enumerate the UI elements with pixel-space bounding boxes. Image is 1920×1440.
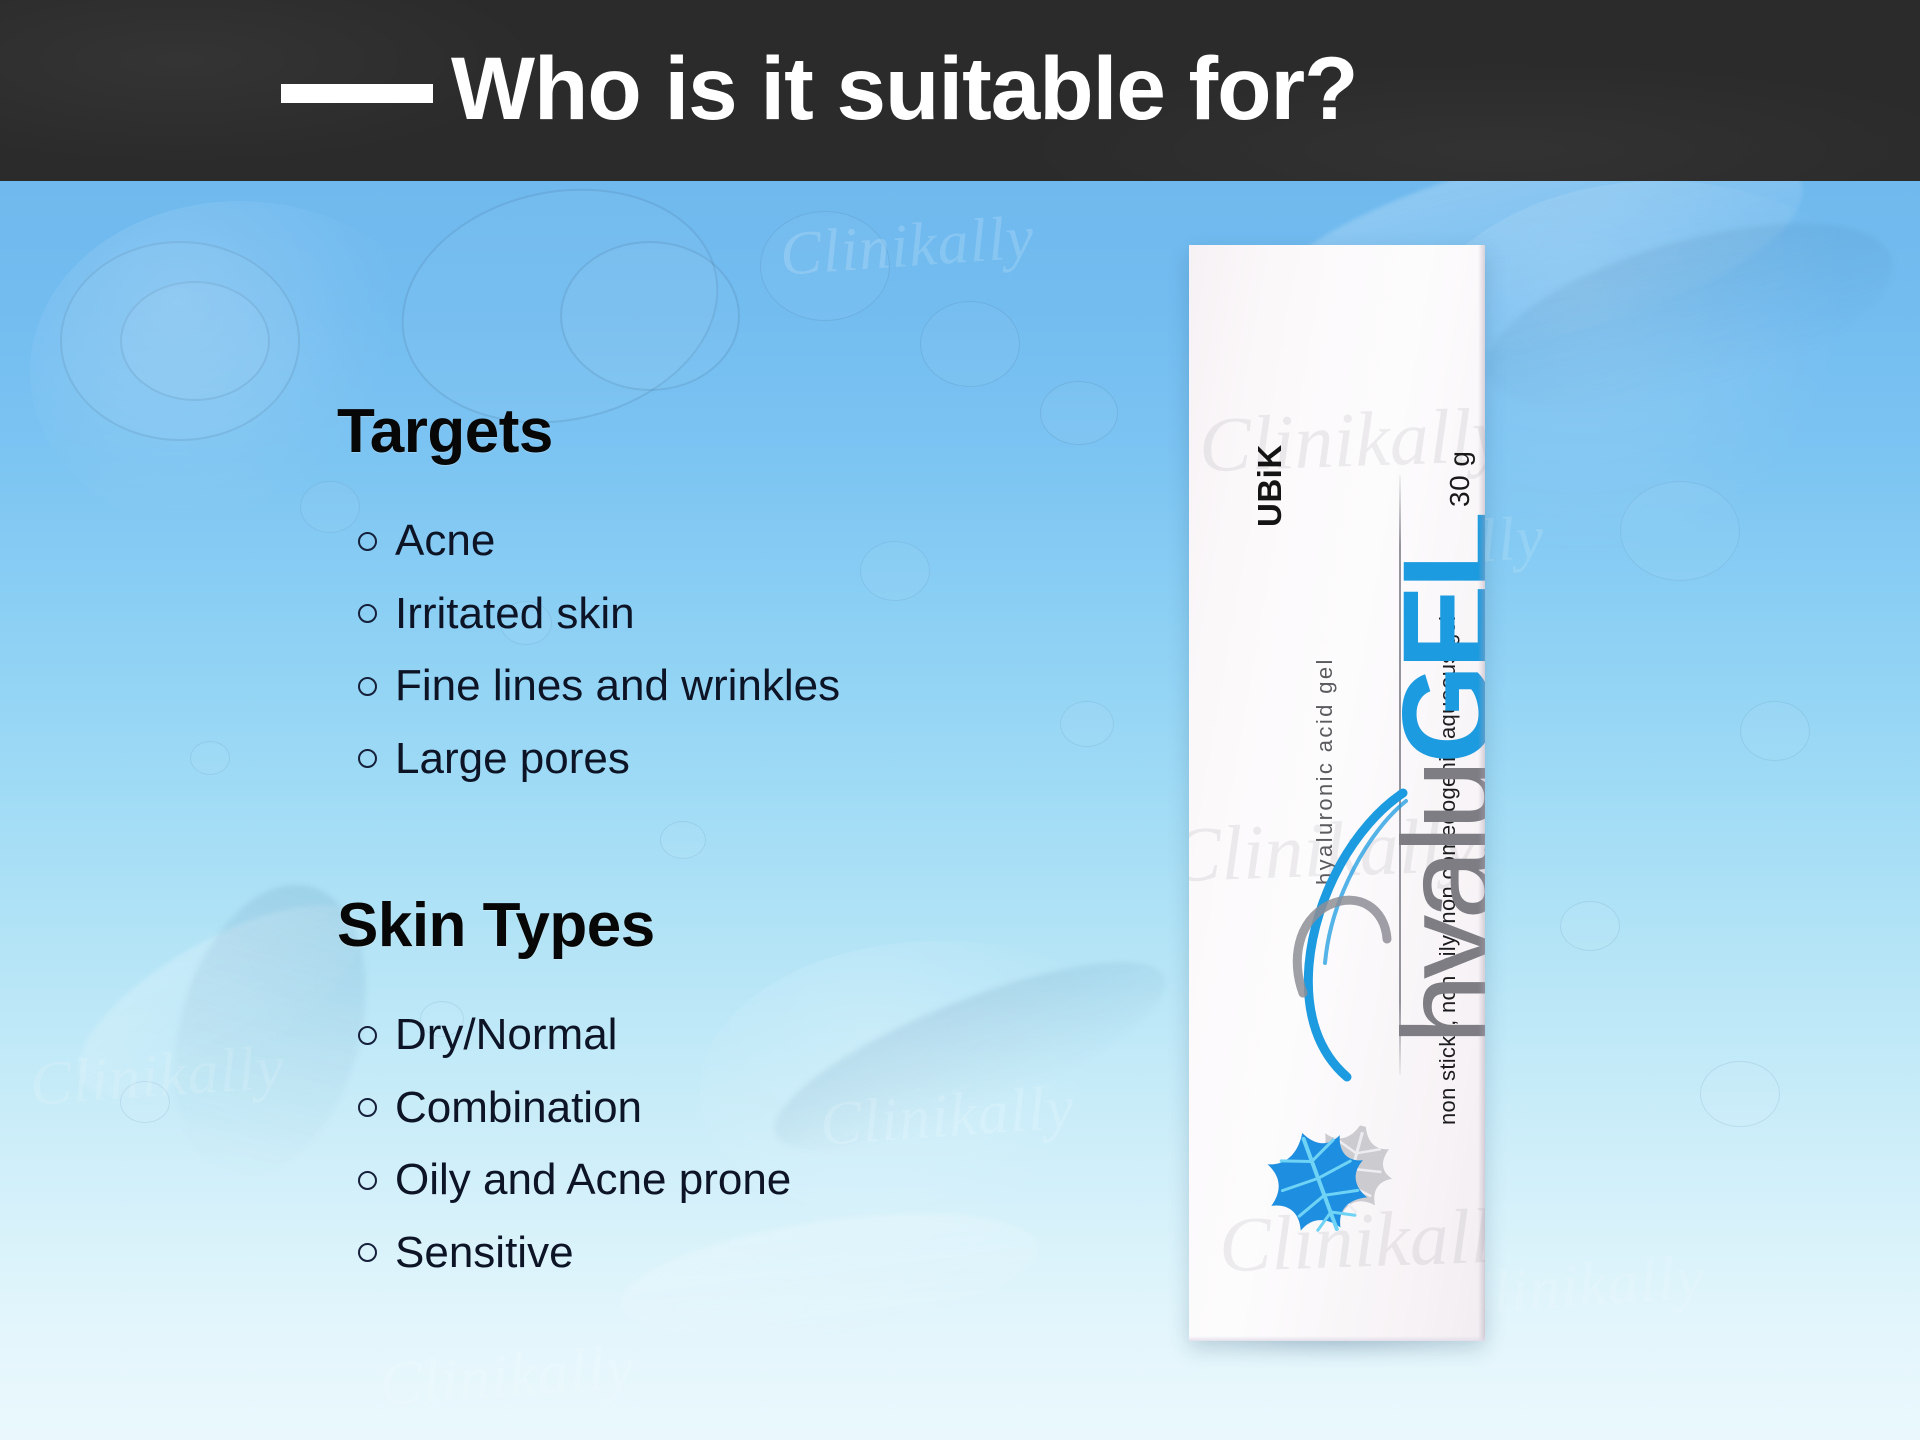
list-item-label: Oily and Acne prone <box>395 1151 791 1210</box>
list-item: Acne <box>358 512 840 571</box>
product-brand-name: UBiK <box>1251 444 1289 527</box>
product-logo-part-gel: GEL <box>1377 516 1485 764</box>
list-item: Dry/Normal <box>358 1006 791 1065</box>
bullet-circle-icon <box>358 1098 377 1117</box>
box-watermark: Clinikally <box>1198 390 1485 491</box>
list-item: Combination <box>358 1079 791 1138</box>
page-header: Who is it suitable for? <box>0 0 1920 181</box>
skin-types-bullet-list: Dry/Normal Combination Oily and Acne pro… <box>358 1006 791 1282</box>
text-content-column: Targets Acne Irritated skin Fine lines a… <box>0 181 1100 1440</box>
list-item: Sensitive <box>358 1224 791 1283</box>
bullet-circle-icon <box>358 1171 377 1190</box>
section-heading-skin-types: Skin Types <box>337 895 655 957</box>
list-item: Oily and Acne prone <box>358 1151 791 1210</box>
section-heading-targets: Targets <box>337 401 553 463</box>
list-item-label: Irritated skin <box>395 585 635 644</box>
list-item-label: Dry/Normal <box>395 1006 617 1065</box>
box-right-edge-highlight <box>1478 245 1485 1341</box>
bullet-circle-icon <box>358 1026 377 1045</box>
bullet-circle-icon <box>358 749 377 768</box>
list-item: Large pores <box>358 730 840 789</box>
header-dash-icon <box>281 84 433 103</box>
list-item: Fine lines and wrinkles <box>358 657 840 716</box>
list-item-label: Sensitive <box>395 1224 574 1283</box>
product-net-weight: 30 g <box>1444 451 1476 508</box>
list-item-label: Acne <box>395 512 495 571</box>
leaf-graphic-icon <box>1233 1105 1443 1285</box>
list-item-label: Fine lines and wrinkles <box>395 657 840 716</box>
logo-ornament-icon <box>1285 881 1395 1001</box>
product-box[interactable]: Clinikally Clinikally Clinikally UBiK 30… <box>1189 245 1485 1341</box>
box-bottom-edge-highlight <box>1189 1336 1485 1341</box>
bullet-circle-icon <box>358 604 377 623</box>
bullet-circle-icon <box>358 532 377 551</box>
list-item: Irritated skin <box>358 585 840 644</box>
bullet-circle-icon <box>358 677 377 696</box>
targets-bullet-list: Acne Irritated skin Fine lines and wrink… <box>358 512 840 788</box>
list-item-label: Combination <box>395 1079 642 1138</box>
bullet-circle-icon <box>358 1243 377 1262</box>
slide-body: Clinikally Clinikally Clinikally Clinika… <box>0 181 1920 1440</box>
page-title: Who is it suitable for? <box>451 44 1358 133</box>
list-item-label: Large pores <box>395 730 630 789</box>
